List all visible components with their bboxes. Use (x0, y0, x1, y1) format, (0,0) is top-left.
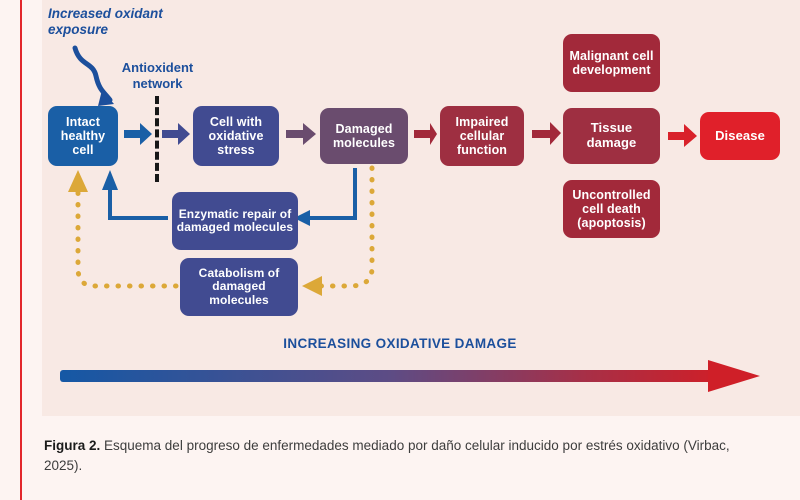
arrow-damaged-to-impaired (414, 123, 437, 145)
label-increasing-oxidative-damage: INCREASING OXIDATIVE DAMAGE (0, 336, 800, 351)
arrow-oxidative-stress-to-damaged (286, 123, 316, 145)
node-intact-healthy-cell: Intact healthy cell (48, 106, 118, 166)
label-antioxidant-network: Antioxident network (110, 60, 205, 91)
node-tissue-damage: Tissue damage (563, 108, 660, 164)
feedback-damaged-to-catabolism-dotted (302, 168, 372, 296)
figure-caption-label: Figura 2. (44, 438, 100, 453)
feedback-damaged-to-enzymatic (294, 168, 355, 226)
oxidant-exposure-squiggle-arrow (75, 48, 114, 106)
label-increased-oxidant-exposure: Increased oxidant exposure (48, 6, 208, 39)
node-cell-oxidative-stress: Cell with oxidative stress (193, 106, 279, 166)
node-damaged-molecules: Damaged molecules (320, 108, 408, 164)
node-impaired-cellular-function: Impaired cellular function (440, 106, 524, 166)
node-uncontrolled-cell-death: Uncontrolled cell death (apoptosis) (563, 180, 660, 238)
node-catabolism: Catabolism of damaged molecules (180, 258, 298, 316)
feedback-catabolism-to-intact-dotted (68, 170, 176, 286)
node-malignant-cell-development: Malignant cell development (563, 34, 660, 92)
node-disease: Disease (700, 112, 780, 160)
figure-caption-text: Esquema del progreso de enfermedades med… (44, 438, 730, 473)
arrow-intact-to-divider (124, 123, 152, 145)
arrow-impaired-to-tissue (532, 122, 561, 145)
arrow-divider-to-oxidative-stress (162, 123, 190, 145)
node-enzymatic-repair: Enzymatic repair of damaged molecules (172, 192, 298, 250)
arrow-tissue-to-disease (668, 124, 697, 147)
figure-caption: Figura 2. Esquema del progreso de enferm… (44, 436, 744, 475)
increasing-damage-gradient-arrow (60, 358, 760, 398)
antioxidant-network-divider (155, 96, 159, 182)
